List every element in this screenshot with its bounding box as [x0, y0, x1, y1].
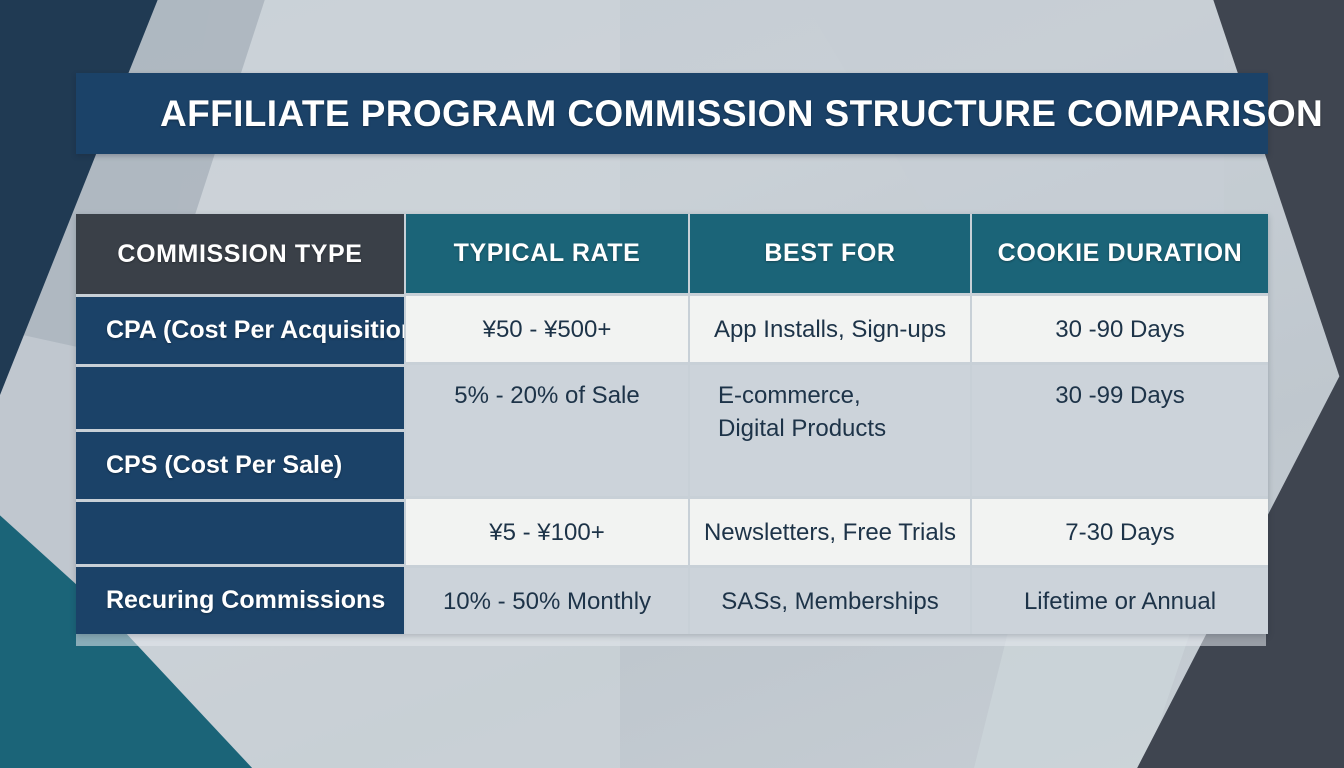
- cell-rate-1: ¥50 - ¥500+: [406, 293, 690, 362]
- cell-rate-4: 10% - 50% Monthly: [406, 565, 690, 634]
- table-column-typical-rate: TYPICAL RATE ¥50 - ¥500+ 5% - 20% of Sal…: [406, 214, 690, 634]
- table-row-label-recurring: Recuring Commissions: [76, 564, 406, 634]
- cell-bestfor-2: E-commerce, Digital Products: [690, 362, 972, 496]
- table-row-label-blank-2: [76, 499, 406, 565]
- slide-canvas: AFFILIATE PROGRAM COMMISSION STRUCTURE C…: [0, 0, 1344, 768]
- cell-cookie-1: 30 -90 Days: [972, 293, 1268, 362]
- table-column-commission-type: COMMISSION TYPE CPA (Cost Per Acquisitio…: [76, 214, 406, 634]
- cell-cookie-2: 30 -99 Days: [972, 362, 1268, 496]
- cell-bestfor-4: SASs, Memberships: [690, 565, 972, 634]
- title-bar: AFFILIATE PROGRAM COMMISSION STRUCTURE C…: [76, 73, 1268, 154]
- comparison-table: COMMISSION TYPE CPA (Cost Per Acquisitio…: [76, 214, 1268, 634]
- cell-bestfor-2-text: E-commerce, Digital Products: [718, 379, 886, 445]
- table-row-label-cpa: CPA (Cost Per Acquisition: [76, 294, 406, 364]
- table-row-label-cps: CPS (Cost Per Sale): [76, 429, 406, 499]
- table-column-best-for: BEST FOR App Installs, Sign-ups E-commer…: [690, 214, 972, 634]
- column-header-commission-type: COMMISSION TYPE: [76, 214, 406, 294]
- column-header-typical-rate: TYPICAL RATE: [406, 214, 690, 293]
- cell-bestfor-3: Newsletters, Free Trials: [690, 496, 972, 565]
- table-column-cookie-duration: COOKIE DURATION 30 -90 Days 30 -99 Days …: [972, 214, 1268, 634]
- cell-bestfor-1: App Installs, Sign-ups: [690, 293, 972, 362]
- column-header-cookie-duration: COOKIE DURATION: [972, 214, 1268, 293]
- page-title: AFFILIATE PROGRAM COMMISSION STRUCTURE C…: [76, 93, 1323, 135]
- column-header-best-for: BEST FOR: [690, 214, 972, 293]
- table-row-label-blank-1: [76, 364, 406, 430]
- cell-rate-2: 5% - 20% of Sale: [406, 362, 690, 496]
- cell-cookie-4: Lifetime or Annual: [972, 565, 1268, 634]
- cell-cookie-3: 7-30 Days: [972, 496, 1268, 565]
- cell-rate-3: ¥5 - ¥100+: [406, 496, 690, 565]
